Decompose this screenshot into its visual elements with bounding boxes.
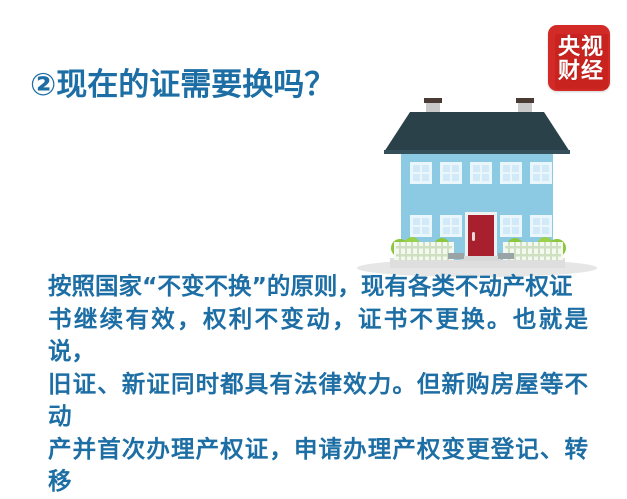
body-line-2: 书继续有效，权利不变动，证书不更换。也就是说， [48, 303, 588, 368]
stoop-left [448, 253, 464, 259]
poster-canvas: 央 视 财 经 ②现在的证需要换吗？ [0, 0, 627, 499]
window-upper-4 [500, 162, 522, 184]
body-line-1: 按照国家“不变不换”的原则，现有各类不动产权证 [48, 270, 588, 303]
logo-char-yang: 央 [557, 36, 580, 60]
logo-char-jing: 经 [580, 60, 603, 84]
logo-characters: 央 视 财 经 [557, 36, 603, 84]
window-lower-4 [530, 215, 552, 237]
body-line-3: 旧证、新证同时都具有法律效力。但新购房屋等不动 [48, 368, 588, 433]
stoop-right [498, 253, 514, 259]
window-upper-3 [470, 162, 492, 184]
window-upper-5 [530, 162, 552, 184]
window-lower-2 [440, 215, 462, 237]
house-roof [384, 112, 570, 152]
roof-eave [384, 150, 570, 154]
logo-char-cai: 财 [557, 60, 580, 84]
window-lower-1 [410, 215, 432, 237]
window-upper-2 [440, 162, 462, 184]
window-upper-1 [410, 162, 432, 184]
body-line-4: 产并首次办理产权证，申请办理产权变更登记、转移 [48, 433, 588, 498]
window-lower-3 [500, 215, 522, 237]
house-illustration [330, 90, 620, 290]
cctv-finance-logo: 央 视 财 经 [548, 25, 610, 91]
upper-windows [410, 162, 552, 184]
page-title: ②现在的证需要换吗？ [30, 66, 335, 104]
picket-fence-left [394, 242, 454, 260]
logo-char-shi: 视 [580, 36, 603, 60]
body-paragraph: 按照国家“不变不换”的原则，现有各类不动产权证 书继续有效，权利不变动，证书不更… [48, 270, 588, 499]
front-door [461, 212, 501, 261]
